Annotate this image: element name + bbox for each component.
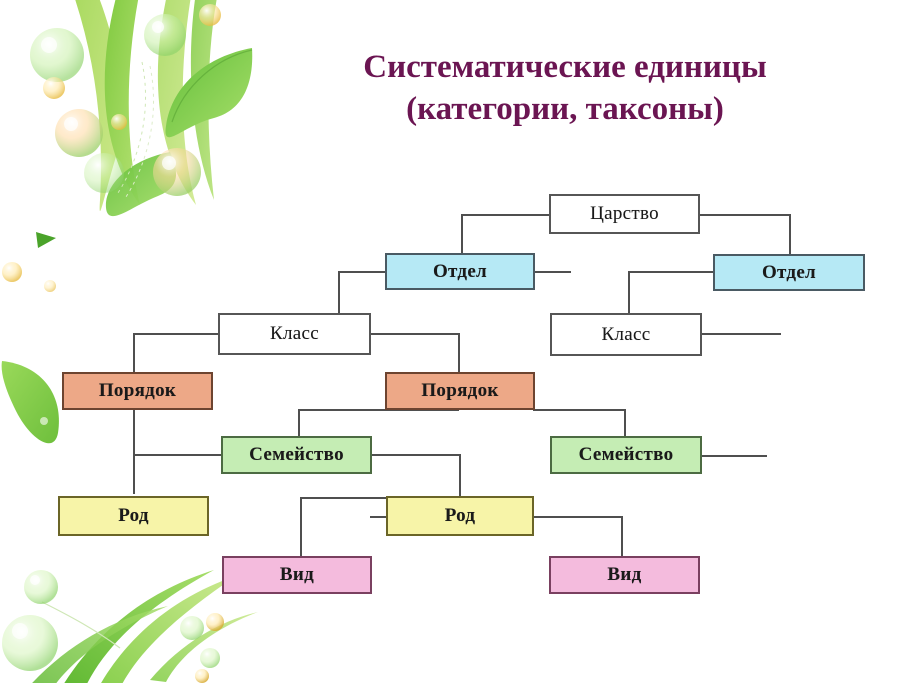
edge-class1-to-order2-horizontal xyxy=(370,333,460,335)
node-order-1[interactable]: Порядок xyxy=(62,372,213,410)
edge-division2-to-class2-horizontal xyxy=(628,271,716,273)
edge-genus2-to-species2-horizontal xyxy=(533,516,623,518)
edge-genus-to-species1-horizontal xyxy=(300,497,390,499)
node-label: Семейство xyxy=(579,444,674,466)
edge-family1-to-genus2-horizontal xyxy=(370,454,461,456)
edge-class1-to-order2-vertical xyxy=(458,333,460,373)
edge-to-family2-vertical xyxy=(624,409,626,439)
edge-kingdom1-to-division1-horizontal xyxy=(461,214,551,216)
node-label: Семейство xyxy=(249,444,344,466)
edge-family1-to-genus2-vertical xyxy=(459,454,461,498)
node-genus-1[interactable]: Род xyxy=(58,496,209,536)
node-family-2[interactable]: Семейство xyxy=(550,436,702,474)
node-species-2[interactable]: Вид xyxy=(549,556,700,594)
node-class-2[interactable]: Класс xyxy=(550,313,702,356)
edge-order1-to-family1-horizontal xyxy=(133,454,222,456)
node-family-1[interactable]: Семейство xyxy=(221,436,372,474)
node-class-1[interactable]: Класс xyxy=(218,313,371,355)
edge-class1-to-order1-horizontal xyxy=(133,333,220,335)
edge-division1-right-stub xyxy=(533,271,571,273)
node-label: Род xyxy=(445,505,476,527)
slide-canvas: Систематические единицы (категории, такс… xyxy=(0,0,910,683)
edge-order2-to-family1-vertical xyxy=(298,409,300,439)
node-kingdom-1[interactable]: Царство xyxy=(549,194,700,234)
node-species-1[interactable]: Вид xyxy=(222,556,372,594)
node-label: Отдел xyxy=(433,261,487,283)
node-label: Отдел xyxy=(762,262,816,284)
node-label: Порядок xyxy=(99,380,176,402)
node-label: Род xyxy=(118,505,149,527)
edge-kingdom1-to-division2-horizontal xyxy=(699,214,791,216)
edge-family2-right-stub xyxy=(701,455,767,457)
edge-kingdom1-to-division2-vertical xyxy=(789,214,791,256)
node-division-1[interactable]: Отдел xyxy=(385,253,535,290)
node-label: Вид xyxy=(280,564,314,586)
edge-order1-to-family1-vertical xyxy=(133,409,135,455)
node-label: Класс xyxy=(602,324,651,346)
node-label: Класс xyxy=(270,323,319,345)
edge-kingdom1-to-division1-vertical xyxy=(461,214,463,256)
node-label: Вид xyxy=(607,564,641,586)
node-label: Порядок xyxy=(421,380,498,402)
node-genus-2[interactable]: Род xyxy=(386,496,534,536)
edge-genus-to-species1-vertical xyxy=(300,497,302,557)
edge-class1-to-order1-vertical xyxy=(133,333,135,373)
edge-to-family2-horizontal xyxy=(533,409,626,411)
edge-division2-to-class2-vertical xyxy=(628,271,630,313)
node-division-2[interactable]: Отдел xyxy=(713,254,865,291)
edge-genus2-to-species2-vertical xyxy=(621,516,623,558)
edge-division1-left-stub xyxy=(338,271,387,273)
edge-class2-right-stub xyxy=(701,333,781,335)
edge-family1-to-genus1-vertical xyxy=(133,454,135,494)
node-order-2[interactable]: Порядок xyxy=(385,372,535,410)
node-label: Царство xyxy=(590,203,659,225)
taxonomy-hierarchy-diagram: Царство Отдел Отдел Класс Класс Порядок … xyxy=(0,0,910,683)
